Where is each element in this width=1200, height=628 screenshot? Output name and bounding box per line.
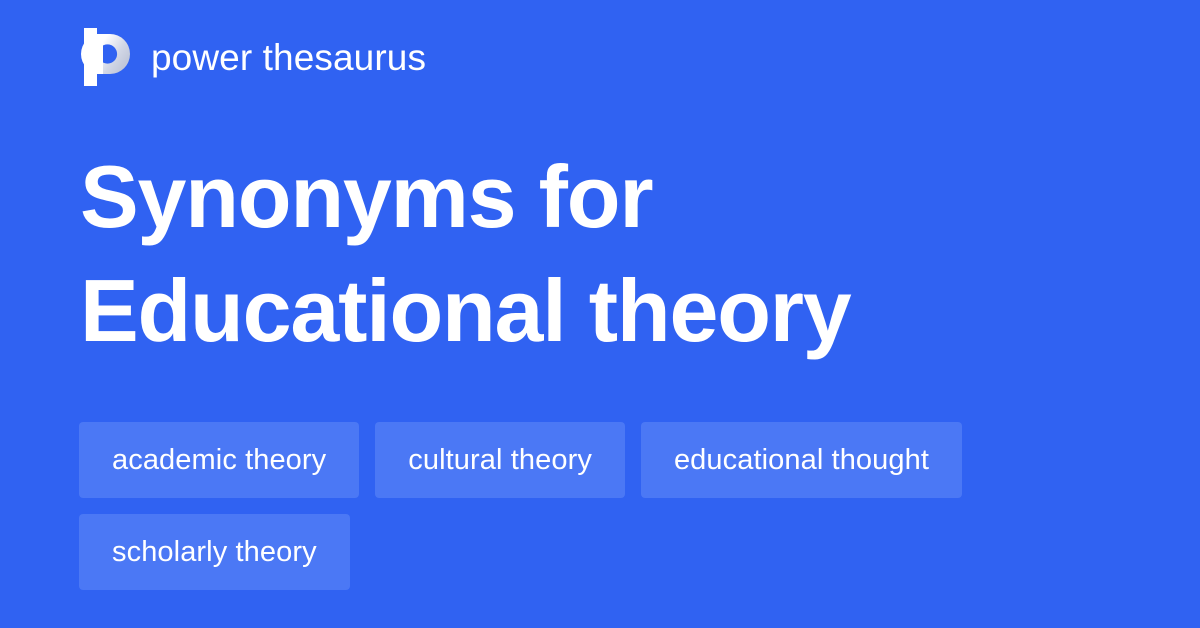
- synonym-chip[interactable]: scholarly theory: [79, 514, 350, 590]
- synonym-chip[interactable]: cultural theory: [375, 422, 625, 498]
- synonym-chip-list: academic theory cultural theory educatio…: [79, 422, 1119, 590]
- brand-header[interactable]: power thesaurus: [80, 26, 426, 88]
- power-thesaurus-b-logo-icon: [80, 28, 132, 86]
- synonym-chip[interactable]: educational thought: [641, 422, 962, 498]
- brand-name: power thesaurus: [151, 39, 426, 76]
- share-card: power thesaurus Synonyms for Educational…: [0, 0, 1200, 628]
- page-title: Synonyms for Educational theory: [80, 140, 1110, 368]
- synonym-chip[interactable]: academic theory: [79, 422, 359, 498]
